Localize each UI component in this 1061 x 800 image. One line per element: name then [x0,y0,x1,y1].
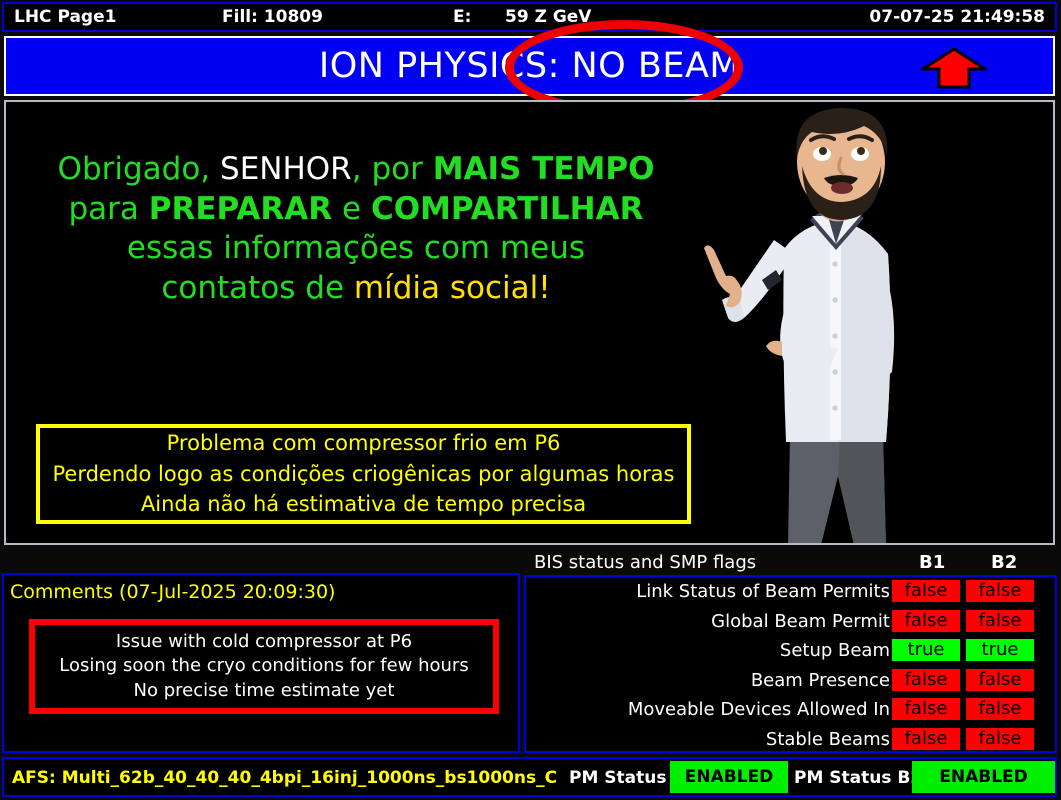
table-row: Setup Beam true true [526,636,1055,666]
main-display-panel: Obrigado, SENHOR, por MAIS TEMPO para PR… [4,100,1055,545]
bis-row-label: Global Beam Permit [711,611,890,632]
message-segment: para [69,191,149,227]
message-segment: MAIS TEMPO [433,151,655,187]
bis-row-label: Link Status of Beam Permits [636,581,890,602]
note-line: Problema com compressor frio em P6 [167,428,561,458]
comments-panel: Comments (07-Jul-2025 20:09:30) Issue wi… [2,573,520,753]
beam-mode-banner: ION PHYSICS: NO BEAM [4,36,1055,96]
table-row: Moveable Devices Allowed In false false [526,695,1055,725]
energy-value: 59 Z GeV [505,7,591,27]
header-bar: LHC Page1 Fill: 10809 E: 59 Z GeV 07-07-… [2,2,1057,32]
table-row: Global Beam Permit false false [526,607,1055,637]
timestamp: 07-07-25 21:49:58 [869,7,1045,27]
message-segment: mídia social! [354,270,551,306]
afs-beam-pattern: AFS: Multi_62b_40_40_40_4bpi_16inj_1000n… [12,768,557,788]
message-segment: e [332,191,371,227]
status-badge: false [966,728,1034,750]
page-title: LHC Page1 [14,7,116,27]
bis-header-row: BIS status and SMP flags B1 B2 [524,552,1057,574]
beam-mode-text: ION PHYSICS: NO BEAM [6,46,1053,86]
bis-row-label: Beam Presence [751,670,890,691]
message-segment: SENHOR [220,151,352,187]
comment-highlight-box: Issue with cold compressor at P6 Losing … [29,619,499,714]
status-badge: false [892,728,960,750]
message-segment: , por [352,151,433,187]
message-line: Obrigado, SENHOR, por MAIS TEMPO [6,150,706,190]
bis-status-panel: Link Status of Beam Permits false false … [524,575,1057,753]
note-line: Perdendo logo as condições criogênicas p… [53,459,675,489]
bis-row-label: Moveable Devices Allowed In [628,699,890,720]
status-badge: false [892,580,960,602]
thank-you-message: Obrigado, SENHOR, por MAIS TEMPO para PR… [6,150,706,309]
energy-label: E: [453,7,471,27]
bis-column-b2: B2 [991,552,1017,573]
lhc-page1-screen: LHC Page1 Fill: 10809 E: 59 Z GeV 07-07-… [0,0,1061,800]
table-row: Beam Presence false false [526,666,1055,696]
message-segment: contatos de [161,270,354,306]
status-badge: false [966,610,1034,632]
status-note-box: Problema com compressor frio em P6 Perde… [36,424,691,524]
table-row: Link Status of Beam Permits false false [526,577,1055,607]
comment-line: No precise time estimate yet [134,679,395,703]
message-segment: COMPARTILHAR [371,191,644,227]
comments-title: Comments (07-Jul-2025 20:09:30) [10,581,335,603]
message-segment: essas informações com meus [127,230,585,266]
status-badge: false [892,698,960,720]
status-badge: false [966,698,1034,720]
table-row: Stable Beams false false [526,725,1055,755]
note-line: Ainda não há estimativa de tempo precisa [141,489,586,519]
message-segment: Obrigado, [58,151,220,187]
status-badge: false [892,610,960,632]
pm-status-b2-label: PM Status B2 [794,768,922,788]
message-line: essas informações com meus [6,229,706,269]
status-badge: false [892,669,960,691]
man-pointing-up-photo [678,104,1050,545]
up-arrow-icon [921,47,987,89]
status-badge: false [966,669,1034,691]
comment-line: Issue with cold compressor at P6 [116,630,412,654]
pm-status-b2-value: ENABLED [912,761,1055,793]
message-segment: PREPARAR [149,191,332,227]
bottom-status-bar: AFS: Multi_62b_40_40_40_4bpi_16inj_1000n… [2,757,1057,797]
bis-column-b1: B1 [919,552,945,573]
bis-title: BIS status and SMP flags [534,552,756,573]
comment-line: Losing soon the cryo conditions for few … [59,654,468,678]
status-badge: true [892,639,960,661]
bis-row-label: Stable Beams [766,729,890,750]
message-line: contatos de mídia social! [6,269,706,309]
fill-number: Fill: 10809 [222,7,323,27]
pm-status-b1-value: ENABLED [670,761,788,793]
message-line: para PREPARAR e COMPARTILHAR [6,190,706,230]
bis-row-label: Setup Beam [780,640,890,661]
status-badge: false [966,580,1034,602]
status-badge: true [966,639,1034,661]
